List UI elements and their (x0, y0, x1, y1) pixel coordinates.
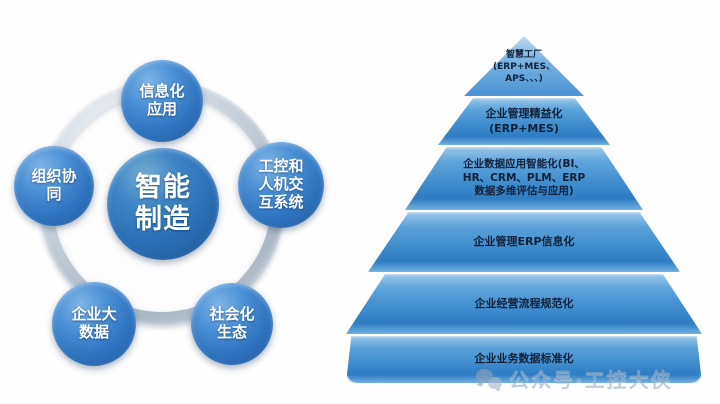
ring-node-industrial-control-hmi: 工控和 人机交 互系统 (238, 142, 324, 228)
pyramid-tier-label: 企业业务数据标准化 (471, 352, 578, 367)
ring-node-informatization-application: 信息化 应用 (121, 60, 203, 142)
pyramid-tier-label: 企业数据应用智能化(BI、 HR、CRM、PLM、ERP 数据多维评估与应用) (459, 158, 589, 200)
pyramid-tier-process-standardization: 企业经营流程规范化 (346, 274, 702, 334)
pyramid-tier-data-application-intelligence: 企业数据应用智能化(BI、 HR、CRM、PLM、ERP 数据多维评估与应用) (405, 147, 643, 210)
ring-node-label: 工控和 人机交 互系统 (238, 158, 324, 211)
pyramid-tier-label: 企业管理精益化 (ERP+MES) (482, 107, 567, 136)
ring-node-label: 企业大 数据 (52, 306, 136, 341)
pyramid-tier-label: 企业经营流程规范化 (471, 297, 578, 312)
pyramid-tier-label: 企业管理ERP信息化 (469, 235, 578, 250)
maturity-pyramid-diagram: 智慧工厂 (ERP+MES、 APS、、、) 企业管理精益化 (ERP+MES)… (352, 36, 704, 366)
pyramid-tier-lean-management: 企业管理精益化 (ERP+MES) (438, 98, 610, 145)
infographic-canvas: 智能 制造 信息化 应用 工控和 人机交 互系统 社会化 生态 企业大 数据 组… (0, 0, 720, 404)
ring-center-label: 智能 制造 (107, 172, 219, 236)
watermark-text: 公众号·工控大侠 (509, 364, 673, 393)
watermark: 公众号·工控大侠 (476, 364, 673, 393)
ring-node-organizational-collaboration: 组织协 同 (14, 146, 94, 226)
wechat-icon (476, 369, 502, 389)
ring-node-social-ecology: 社会化 生态 (191, 283, 273, 365)
pyramid-tier-label: 智慧工厂 (ERP+MES、 APS、、、) (489, 50, 559, 86)
smart-manufacturing-ring-diagram: 智能 制造 信息化 应用 工控和 人机交 互系统 社会化 生态 企业大 数据 组… (0, 0, 360, 404)
pyramid-tier-erp-informatization: 企业管理ERP信息化 (368, 212, 680, 272)
pyramid-tier-smart-factory: 智慧工厂 (ERP+MES、 APS、、、) (464, 36, 584, 96)
ring-node-enterprise-big-data: 企业大 数据 (52, 282, 136, 366)
ring-center-node: 智能 制造 (107, 148, 219, 260)
ring-node-label: 信息化 应用 (121, 83, 203, 118)
ring-node-label: 组织协 同 (14, 168, 94, 203)
ring-node-label: 社会化 生态 (191, 306, 273, 341)
